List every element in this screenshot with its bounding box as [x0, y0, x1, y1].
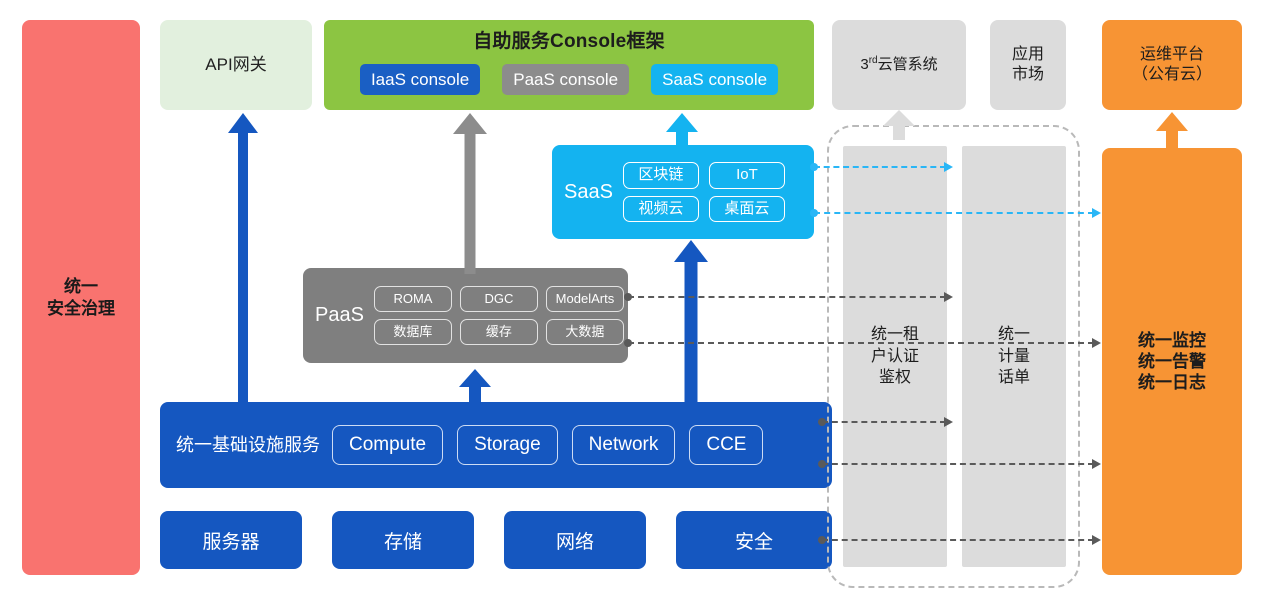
infra-service-compute[interactable]: Compute [332, 425, 443, 465]
hardware-box-security[interactable]: 安全 [676, 511, 832, 569]
paas-console-chip[interactable]: PaaS console [502, 64, 629, 95]
hardware-label-storage: 存储 [384, 527, 422, 554]
console-frame-title: 自助服务Console框架 [473, 30, 665, 54]
ops-stack-label: 统一监控 统一告警 统一日志 [1138, 330, 1206, 394]
dashed-infra-to-ops [822, 463, 1094, 465]
dashed-saas-to-tenant-auth [814, 166, 946, 168]
app-market-box[interactable]: 应用 市场 [990, 20, 1066, 110]
paas-service-modelarts[interactable]: ModelArts [546, 286, 624, 312]
arrow-infra-to-paas [459, 369, 491, 405]
saas-service-grid: 区块链 IoT 视频云 桌面云 [623, 162, 785, 223]
infra-service-network[interactable]: Network [572, 425, 676, 465]
arrow-shared-to-third-party [883, 110, 915, 140]
arrowhead-paas-to-ops [1092, 338, 1101, 348]
paas-service-bigdata[interactable]: 大数据 [546, 319, 624, 345]
ordinal-superscript: rd [869, 55, 878, 66]
arrow-ops-stack-to-ops-platform [1156, 112, 1188, 150]
infra-service-cce[interactable]: CCE [689, 425, 763, 465]
metering-label: 统一 计量 话单 [998, 324, 1030, 389]
iaas-console-chip[interactable]: IaaS console [360, 64, 480, 95]
app-market-label: 应用 市场 [1012, 45, 1044, 85]
governance-label: 统一 安全治理 [47, 276, 115, 319]
arrowhead-paas-to-tenant-auth [944, 292, 953, 302]
dashed-paas-to-ops [628, 342, 1094, 344]
infra-service-storage[interactable]: Storage [457, 425, 558, 465]
arrowhead-infra-to-ops [1092, 459, 1101, 469]
paas-service-database[interactable]: 数据库 [374, 319, 452, 345]
paas-service-cache[interactable]: 缓存 [460, 319, 538, 345]
api-gateway-label: API网关 [205, 54, 266, 75]
saas-service-blockchain[interactable]: 区块链 [623, 162, 699, 189]
saas-service-desktop-cloud[interactable]: 桌面云 [709, 196, 785, 223]
third-party-label: 3rd云管系统 [860, 55, 937, 75]
saas-layer-label: SaaS [564, 180, 613, 205]
third-party-cloud-mgmt-box[interactable]: 3rd云管系统 [832, 20, 966, 110]
hardware-box-network[interactable]: 网络 [504, 511, 646, 569]
saas-console-chip[interactable]: SaaS console [651, 64, 778, 95]
dashed-hardware-to-ops [822, 539, 1094, 541]
paas-service-dgc[interactable]: DGC [460, 286, 538, 312]
self-service-console-frame[interactable]: 自助服务Console框架 IaaS console PaaS console … [324, 20, 814, 110]
architecture-diagram: 统一 安全治理 API网关 自助服务Console框架 IaaS console… [0, 0, 1265, 605]
unified-tenant-auth-column[interactable]: 统一租 户认证 鉴权 [843, 146, 947, 567]
tenant-auth-label: 统一租 户认证 鉴权 [871, 324, 919, 389]
hardware-label-security: 安全 [735, 527, 773, 554]
arrowhead-saas-to-tenant-auth [944, 162, 953, 172]
arrow-infra-to-saas [674, 240, 708, 405]
paas-service-grid: ROMA DGC ModelArts 数据库 缓存 大数据 [374, 286, 624, 346]
paas-service-roma[interactable]: ROMA [374, 286, 452, 312]
api-gateway-box[interactable]: API网关 [160, 20, 312, 110]
dashed-paas-to-tenant-auth [628, 296, 946, 298]
saas-service-iot[interactable]: IoT [709, 162, 785, 189]
saas-layer-box[interactable]: SaaS 区块链 IoT 视频云 桌面云 [552, 145, 814, 239]
arrowhead-saas-to-ops [1092, 208, 1101, 218]
paas-layer-box[interactable]: PaaS ROMA DGC ModelArts 数据库 缓存 大数据 [303, 268, 628, 363]
console-chip-group: IaaS console PaaS console SaaS console [360, 64, 778, 95]
unified-metering-column[interactable]: 统一 计量 话单 [962, 146, 1066, 567]
arrow-infra-to-api-gateway [228, 113, 258, 403]
saas-service-video-cloud[interactable]: 视频云 [623, 196, 699, 223]
unified-infrastructure-bar[interactable]: 统一基础设施服务 Compute Storage Network CCE [160, 402, 832, 488]
hardware-box-storage[interactable]: 存储 [332, 511, 474, 569]
ops-platform-box[interactable]: 运维平台 （公有云） [1102, 20, 1242, 110]
paas-layer-label: PaaS [315, 303, 364, 328]
arrowhead-hardware-to-ops [1092, 535, 1101, 545]
hardware-label-server: 服务器 [202, 527, 259, 554]
ops-platform-label: 运维平台 （公有云） [1132, 45, 1212, 85]
ops-monitoring-stack-panel[interactable]: 统一监控 统一告警 统一日志 [1102, 148, 1242, 575]
infrastructure-chip-group: Compute Storage Network CCE [332, 425, 763, 465]
arrow-paas-to-console [453, 113, 487, 273]
hardware-label-network: 网络 [556, 527, 594, 554]
arrow-saas-to-console [666, 113, 698, 151]
arrowhead-infra-to-tenant-auth [944, 417, 953, 427]
dashed-saas-to-ops [814, 212, 1094, 214]
unified-security-governance-panel[interactable]: 统一 安全治理 [22, 20, 140, 575]
hardware-box-server[interactable]: 服务器 [160, 511, 302, 569]
infrastructure-label: 统一基础设施服务 [176, 434, 320, 457]
dashed-infra-to-tenant-auth [822, 421, 946, 423]
